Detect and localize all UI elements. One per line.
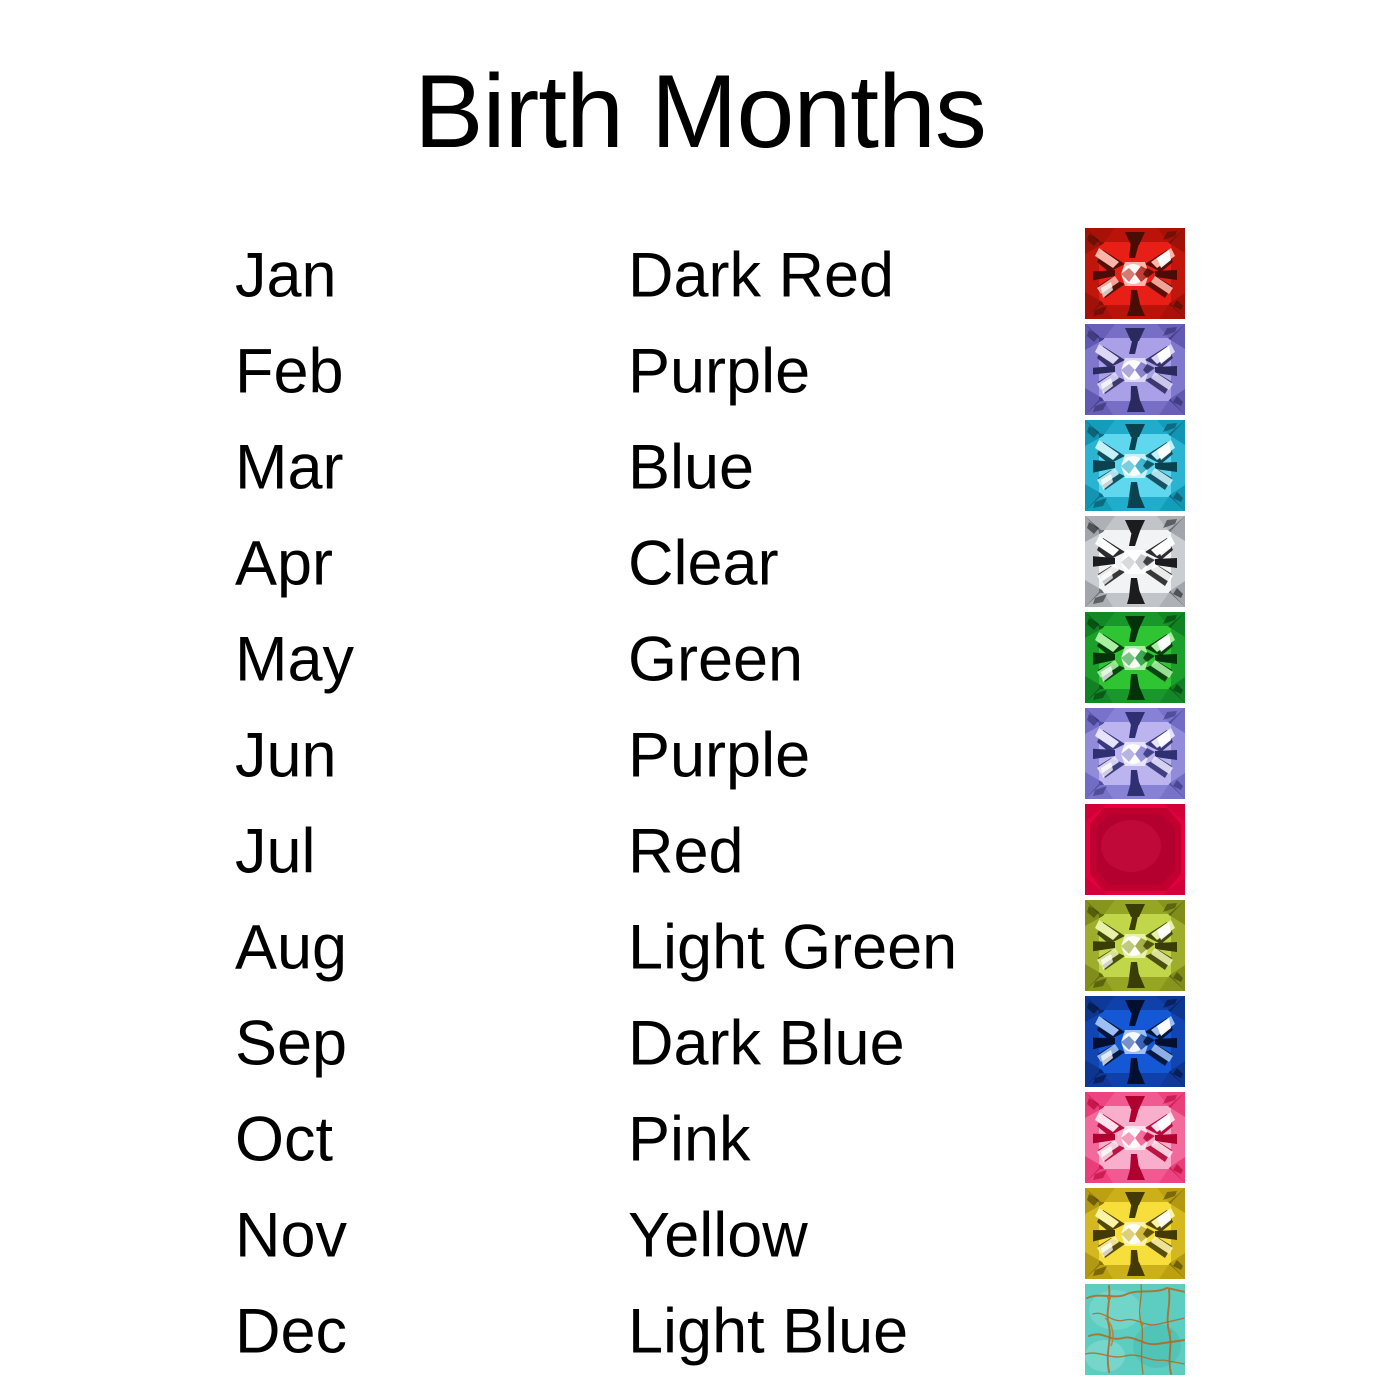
month-label: Feb — [235, 341, 344, 404]
month-label: Oct — [235, 1109, 333, 1172]
birth-month-row: MarBlue — [0, 420, 1400, 516]
sapphire-gem — [1085, 996, 1185, 1087]
month-label: Nov — [235, 1205, 347, 1268]
month-label: Jan — [235, 245, 337, 308]
birth-month-row: JanDark Red — [0, 228, 1400, 324]
month-label: Aug — [235, 917, 347, 980]
birth-month-list: JanDark RedFebPurpleMarBlueAprClearMayGr… — [0, 228, 1400, 1380]
birth-month-row: NovYellow — [0, 1188, 1400, 1284]
color-name-label: Pink — [628, 1109, 751, 1172]
birth-month-row: OctPink — [0, 1092, 1400, 1188]
birth-month-row: JulRed — [0, 804, 1400, 900]
peridot-gem — [1085, 900, 1185, 991]
birth-month-row: DecLight Blue — [0, 1284, 1400, 1380]
birth-months-page: Birth Months JanDark RedFebPurpleMarBlue… — [0, 0, 1400, 1400]
month-label: Jun — [235, 725, 337, 788]
month-label: Mar — [235, 437, 344, 500]
birth-month-row: JunPurple — [0, 708, 1400, 804]
color-name-label: Light Blue — [628, 1301, 908, 1364]
ruby-gem — [1085, 804, 1185, 895]
color-name-label: Purple — [628, 341, 810, 404]
tourmaline-gem — [1085, 1092, 1185, 1183]
amethyst-gem — [1085, 324, 1185, 415]
citrine-gem — [1085, 1188, 1185, 1279]
month-label: May — [235, 629, 354, 692]
alexandrite-gem — [1085, 708, 1185, 799]
birth-month-row: FebPurple — [0, 324, 1400, 420]
aquamarine-gem — [1085, 420, 1185, 511]
month-label: Dec — [235, 1301, 347, 1364]
month-label: Apr — [235, 533, 333, 596]
month-label: Sep — [235, 1013, 347, 1076]
birth-month-row: AprClear — [0, 516, 1400, 612]
color-name-label: Green — [628, 629, 803, 692]
color-name-label: Clear — [628, 533, 779, 596]
emerald-gem — [1085, 612, 1185, 703]
color-name-label: Yellow — [628, 1205, 808, 1268]
garnet-gem — [1085, 228, 1185, 319]
color-name-label: Light Green — [628, 917, 957, 980]
turquoise-gem — [1085, 1284, 1185, 1375]
color-name-label: Dark Blue — [628, 1013, 905, 1076]
birth-month-row: SepDark Blue — [0, 996, 1400, 1092]
color-name-label: Red — [628, 821, 744, 884]
color-name-label: Dark Red — [628, 245, 894, 308]
color-name-label: Purple — [628, 725, 810, 788]
birth-month-row: MayGreen — [0, 612, 1400, 708]
page-title: Birth Months — [0, 58, 1400, 167]
birth-month-row: AugLight Green — [0, 900, 1400, 996]
diamond-gem — [1085, 516, 1185, 607]
month-label: Jul — [235, 821, 316, 884]
color-name-label: Blue — [628, 437, 754, 500]
